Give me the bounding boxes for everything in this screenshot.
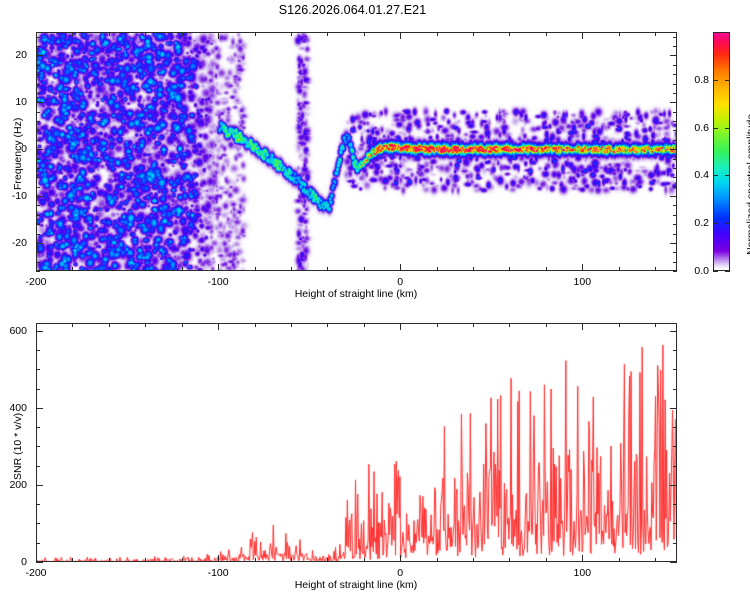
colorbar-tick-label: 0.0: [673, 265, 709, 277]
spectrogram-clip: [37, 33, 676, 270]
snr-plot: [36, 323, 677, 562]
axis-tick-label: -100: [208, 276, 229, 288]
page-title: S126.2026.064.01.27.E21: [0, 3, 705, 17]
colorbar-tick-label: 0.2: [673, 217, 709, 229]
colorbar-tick-label: 0.6: [673, 122, 709, 134]
colorbar-tick-label: 0.4: [673, 169, 709, 181]
axis-tick-label: -20: [0, 237, 27, 249]
axis-tick-label: 0: [397, 567, 403, 579]
colorbar-gradient: [714, 33, 729, 270]
axis-tick-label: 100: [574, 276, 592, 288]
axis-tick-label: 100: [574, 567, 592, 579]
axis-tick-label: 10: [0, 96, 27, 108]
snr-trace-line: [37, 324, 676, 561]
axis-tick-label: -200: [25, 567, 46, 579]
spectrogram-plot: [36, 32, 677, 271]
axis-tick-label: 0: [397, 276, 403, 288]
spectrogram-image: [37, 33, 676, 270]
snr-xaxis-title: Height of straight line (km): [295, 579, 418, 591]
axis-tick-label: -10: [0, 190, 27, 202]
axis-tick-label: 20: [0, 49, 27, 61]
figure-root: S126.2026.064.01.27.E21 -200-1000100-20-…: [0, 0, 750, 600]
snr-yaxis-title: SNR (10 * v/v): [12, 413, 24, 480]
axis-tick-label: 200: [0, 479, 27, 491]
axis-tick-label: 0: [0, 556, 27, 568]
colorbar: [713, 32, 730, 271]
colorbar-tick-label: 0.8: [673, 74, 709, 86]
colorbar-title: Normalized spectral amplitude: [745, 114, 750, 255]
spectrogram-xaxis-title: Height of straight line (km): [295, 288, 418, 300]
snr-clip: [37, 324, 676, 561]
axis-tick-label: -100: [208, 567, 229, 579]
spectrogram-yaxis-title: Frequency (Hz): [12, 118, 24, 190]
axis-tick-label: -200: [25, 276, 46, 288]
axis-tick-label: 600: [0, 325, 27, 337]
